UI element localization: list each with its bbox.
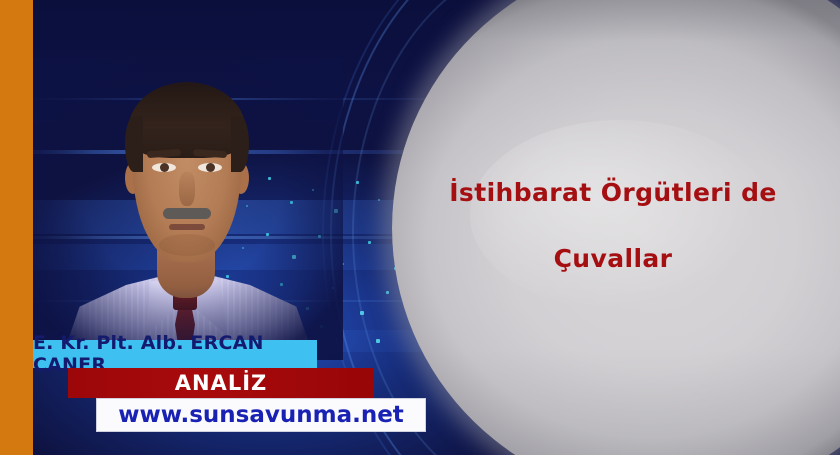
article-banner: İstihbarat Örgütleri de Çuvallar E. Kr. …	[0, 0, 840, 455]
website-url-bar[interactable]: www.sunsavunma.net	[96, 398, 426, 432]
headline: İstihbarat Örgütleri de Çuvallar	[398, 160, 828, 292]
category-bar: ANALİZ	[68, 368, 374, 398]
headline-line-1: İstihbarat Örgütleri de	[449, 178, 777, 207]
author-portrait-photo	[33, 58, 343, 360]
author-name-bar: E. Kr. Plt. Alb. ERCAN CANER	[33, 340, 317, 368]
left-accent-rail	[0, 0, 33, 455]
portrait-vignette	[33, 58, 343, 360]
headline-line-2: Çuvallar	[398, 226, 828, 292]
